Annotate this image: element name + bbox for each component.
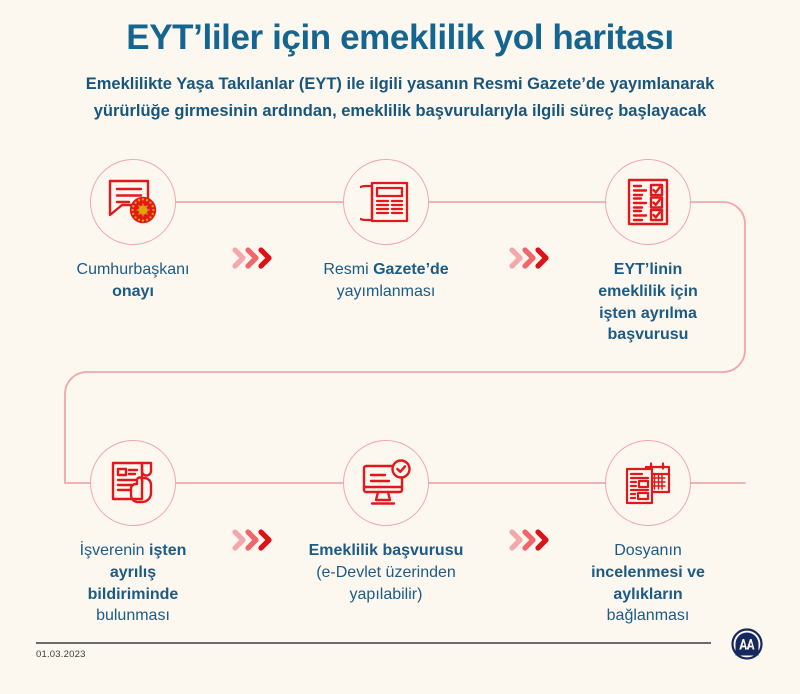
step-6-label: Dosyanınincelenmesi veaylıklarınbağlanma… bbox=[548, 540, 748, 627]
step-4-isverenin-isten-ayrilis-bildirimi[interactable]: İşverenin iştenayrılışbildirimindebulunm… bbox=[33, 440, 233, 627]
chevron-3 bbox=[538, 532, 546, 548]
header: EYT’liler için emeklilik yol haritası Em… bbox=[0, 0, 800, 125]
step-4-label: İşverenin iştenayrılışbildirimindebulunm… bbox=[33, 540, 233, 627]
chevron-2 bbox=[248, 250, 256, 266]
chevron-2 bbox=[248, 532, 256, 548]
chevron-arrows-step4-to-step5 bbox=[231, 527, 277, 553]
step-3-eytlinin-isten-ayrilma-basvurusu[interactable]: EYT’lininemeklilik içinişten ayrılmabaşv… bbox=[548, 159, 748, 346]
step-5-emeklilik-basvurusu-edevlet[interactable]: Emeklilik başvurusu(e-Devlet üzerindenya… bbox=[286, 440, 486, 605]
newspaper-icon bbox=[360, 179, 412, 225]
chevron-arrows-step1-to-step2 bbox=[231, 245, 277, 271]
step-6-dosyanin-incelenmesi-aylik-baglanmasi[interactable]: Dosyanınincelenmesi veaylıklarınbağlanma… bbox=[548, 440, 748, 627]
page-title: EYT’liler için emeklilik yol haritası bbox=[0, 0, 800, 57]
step-4-icon-circle bbox=[90, 440, 176, 526]
infographic-root: EYT’liler için emeklilik yol haritası Em… bbox=[0, 0, 800, 694]
step-2-resmi-gazetede-yayimlanmasi[interactable]: Resmi Gazete’deyayımlanması bbox=[286, 159, 486, 303]
checklist-clipboard-icon bbox=[624, 176, 672, 228]
subtitle-line-2: yürürlüğe girmesinin ardından, emeklilik… bbox=[42, 98, 758, 125]
step-2-label: Resmi Gazete’deyayımlanması bbox=[286, 259, 486, 303]
step-1-icon-circle bbox=[90, 159, 176, 245]
step-5-label: Emeklilik başvurusu(e-Devlet üzerindenya… bbox=[286, 540, 486, 605]
step-6-icon-circle bbox=[605, 440, 691, 526]
step-3-icon-circle bbox=[605, 159, 691, 245]
chevron-1 bbox=[512, 532, 520, 548]
anadolu-agency-logo bbox=[730, 627, 764, 661]
chevron-arrows-step5-to-step6 bbox=[508, 527, 554, 553]
step-3-label: EYT’lininemeklilik içinişten ayrılmabaşv… bbox=[548, 259, 748, 346]
chevron-2 bbox=[525, 532, 533, 548]
monitor-with-checkmark-icon bbox=[359, 458, 413, 508]
chevron-1 bbox=[235, 532, 243, 548]
document-with-presidential-seal-icon bbox=[106, 177, 160, 227]
step-2-icon-circle bbox=[343, 159, 429, 245]
hand-signing-document-icon bbox=[108, 458, 158, 508]
step-5-icon-circle bbox=[343, 440, 429, 526]
chevron-arrows-step2-to-step3 bbox=[508, 245, 554, 271]
chevron-3 bbox=[538, 250, 546, 266]
document-and-calendar-icon bbox=[622, 458, 674, 508]
footer: 01.03.2023 bbox=[36, 630, 764, 676]
chevron-1 bbox=[235, 250, 243, 266]
step-1-cumhurbaskani-onayi[interactable]: Cumhurbaşkanıonayı bbox=[33, 159, 233, 303]
subtitle-line-1: Emeklilikte Yaşa Takılanlar (EYT) ile il… bbox=[42, 71, 758, 98]
chevron-3 bbox=[261, 532, 269, 548]
footer-divider bbox=[36, 642, 711, 644]
chevron-1 bbox=[512, 250, 520, 266]
chevron-2 bbox=[525, 250, 533, 266]
publish-date: 01.03.2023 bbox=[36, 649, 86, 660]
page-subtitle: Emeklilikte Yaşa Takılanlar (EYT) ile il… bbox=[42, 57, 758, 124]
step-1-label: Cumhurbaşkanıonayı bbox=[33, 259, 233, 303]
chevron-3 bbox=[261, 250, 269, 266]
